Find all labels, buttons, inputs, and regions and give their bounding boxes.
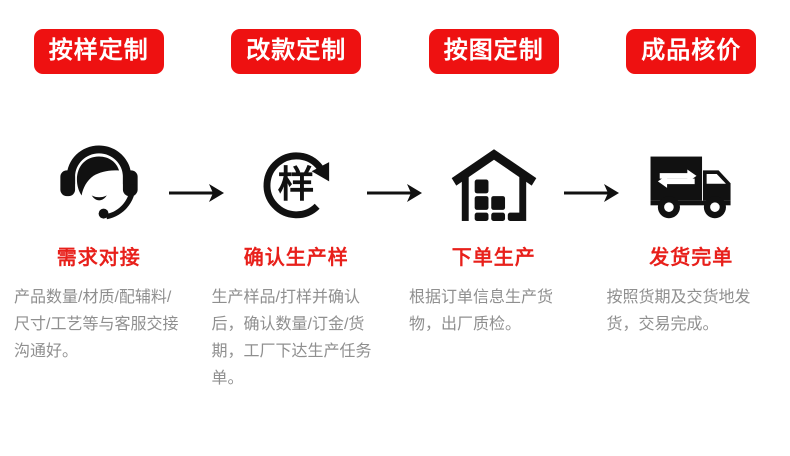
badge-custom-modified-style[interactable]: 改款定制 <box>231 29 361 74</box>
step-title: 需求对接 <box>57 248 141 268</box>
badge-cell: 改款定制 <box>198 29 396 74</box>
badge-custom-by-sample[interactable]: 按样定制 <box>34 29 164 74</box>
badge-finished-product-pricing[interactable]: 成品核价 <box>626 29 756 74</box>
step-description: 生产样品/打样并确认后，确认数量/订金/货期，工厂下达生产任务单。 <box>212 284 382 392</box>
step-title: 发货完单 <box>649 248 733 268</box>
headset-operator-icon <box>53 140 145 232</box>
svg-text:样: 样 <box>278 163 315 206</box>
step-confirm-production-sample: 样 确认生产样 生产样品/打样并确认后，确认数量/订金/货期，工厂下达生产任务单… <box>198 140 396 392</box>
step-place-order-production: 下单生产 根据订单信息生产货物，出厂质检。 <box>395 140 593 338</box>
steps-row: 需求对接 产品数量/材质/配辅料/尺寸/工艺等与客服交接沟通好。 样 确认生产样… <box>0 140 790 392</box>
step-description: 按照货期及交货地发货，交易完成。 <box>607 284 777 338</box>
sample-refresh-icon: 样 <box>250 140 342 232</box>
factory-warehouse-icon <box>448 140 540 232</box>
arrow-right-icon-3 <box>563 182 621 204</box>
badge-cell: 按样定制 <box>0 29 198 74</box>
step-requirement-docking: 需求对接 产品数量/材质/配辅料/尺寸/工艺等与客服交接沟通好。 <box>0 140 198 365</box>
badge-custom-by-drawing[interactable]: 按图定制 <box>429 29 559 74</box>
step-description: 产品数量/材质/配辅料/尺寸/工艺等与客服交接沟通好。 <box>14 284 184 365</box>
arrow-right-icon-1 <box>168 182 226 204</box>
badge-row: 按样定制 改款定制 按图定制 成品核价 <box>0 29 790 75</box>
badge-cell: 成品核价 <box>593 29 790 74</box>
process-flow-banner: 按样定制 改款定制 按图定制 成品核价 <box>0 0 790 456</box>
arrow-right-icon-2 <box>366 182 424 204</box>
step-shipment-complete: 发货完单 按照货期及交货地发货，交易完成。 <box>593 140 790 338</box>
step-description: 根据订单信息生产货物，出厂质检。 <box>409 284 579 338</box>
step-title: 确认生产样 <box>244 248 349 268</box>
step-title: 下单生产 <box>452 248 536 268</box>
badge-cell: 按图定制 <box>395 29 593 74</box>
delivery-truck-icon <box>645 140 737 232</box>
